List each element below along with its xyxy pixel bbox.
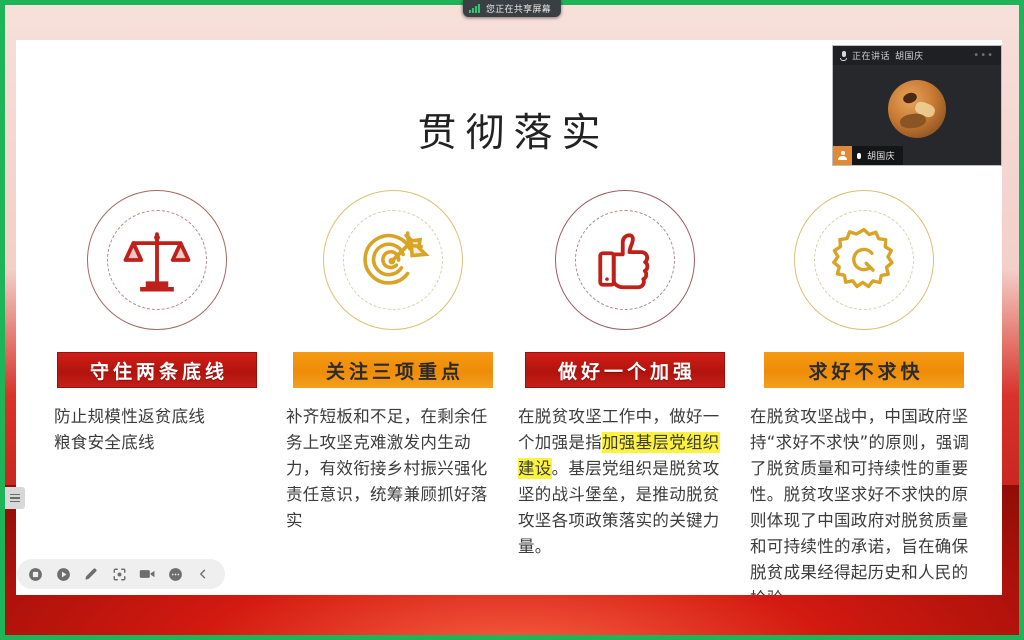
annotation-toolbar[interactable]: [17, 559, 225, 589]
more-icon[interactable]: [163, 562, 187, 586]
speaker-video-panel[interactable]: 正在讲话 胡国庆 ••• 胡国庆: [833, 46, 1001, 165]
column-group: 守住两条底线 防止规模性返贫底线 粮食安全底线: [46, 190, 972, 595]
text-run: 粮食安全底线: [54, 433, 155, 452]
medallion-1: [87, 190, 227, 330]
more-icon[interactable]: •••: [973, 50, 994, 61]
body-text-4: 在脱贫攻坚战中，中国政府坚持“求好不求快”的原则，强调了脱贫质量和可持续性的重要…: [750, 404, 978, 595]
speaker-name: 胡国庆: [895, 49, 924, 62]
share-status-text: 您正在共享屏幕: [486, 2, 551, 15]
column-3: 做好一个加强 在脱贫攻坚工作中，做好一个加强是指加强基层党组织建设。基层党组织是…: [518, 190, 732, 595]
signal-bars-icon: [469, 4, 480, 13]
play-icon[interactable]: [51, 562, 75, 586]
balance-scales-icon: [121, 224, 193, 296]
screen-root: 贯彻落实: [0, 0, 1024, 640]
band-label-3: 做好一个加强: [525, 352, 725, 388]
participant-name: 胡国庆: [866, 149, 903, 162]
column-1: 守住两条底线 防止规模性返贫底线 粮食安全底线: [46, 190, 268, 595]
user-avatar-icon: [833, 146, 852, 165]
medallion-3: [555, 190, 695, 330]
collapse-left-icon[interactable]: [191, 562, 215, 586]
participant-name-badge: 胡国庆: [833, 146, 903, 165]
thumbs-up-icon: [589, 224, 661, 296]
body-text-3: 在脱贫攻坚工作中，做好一个加强是指加强基层党组织建设。基层党组织是脱贫攻坚的战斗…: [518, 404, 732, 560]
microphone-icon: [852, 153, 866, 159]
video-panel-header: 正在讲话 胡国庆 •••: [833, 46, 1001, 65]
pencil-annotate-icon[interactable]: [79, 562, 103, 586]
screenshot-icon[interactable]: [107, 562, 131, 586]
band-label-2: 关注三项重点: [293, 352, 493, 388]
target-dart-icon: [357, 224, 429, 296]
medallion-4: [794, 190, 934, 330]
body-text-1: 防止规模性返贫底线 粮食安全底线: [54, 404, 268, 456]
record-stop-icon[interactable]: [23, 562, 47, 586]
speaking-label: 正在讲话: [852, 49, 890, 62]
microphone-icon: [840, 51, 847, 61]
panel-handle-icon[interactable]: [5, 487, 25, 509]
quality-badge-icon: [828, 224, 900, 296]
column-4: 求好不求快 在脱贫攻坚战中，中国政府坚持“求好不求快”的原则，强调了脱贫质量和可…: [750, 190, 978, 595]
screen-share-indicator: 您正在共享屏幕: [463, 0, 561, 17]
video-camera-icon[interactable]: [135, 562, 159, 586]
band-label-4: 求好不求快: [764, 352, 964, 388]
presentation-stage: 贯彻落实: [5, 5, 1019, 635]
text-run: 防止规模性返贫底线: [54, 407, 205, 426]
column-2: 关注三项重点 补齐短板和不足，在剩余任务上攻坚克难激发内生动力，有效衔接乡村振兴…: [286, 190, 500, 595]
avatar: [888, 80, 946, 138]
medallion-2: [323, 190, 463, 330]
band-label-1: 守住两条底线: [57, 352, 257, 388]
body-text-2: 补齐短板和不足，在剩余任务上攻坚克难激发内生动力，有效衔接乡村振兴强化责任意识，…: [286, 404, 500, 534]
